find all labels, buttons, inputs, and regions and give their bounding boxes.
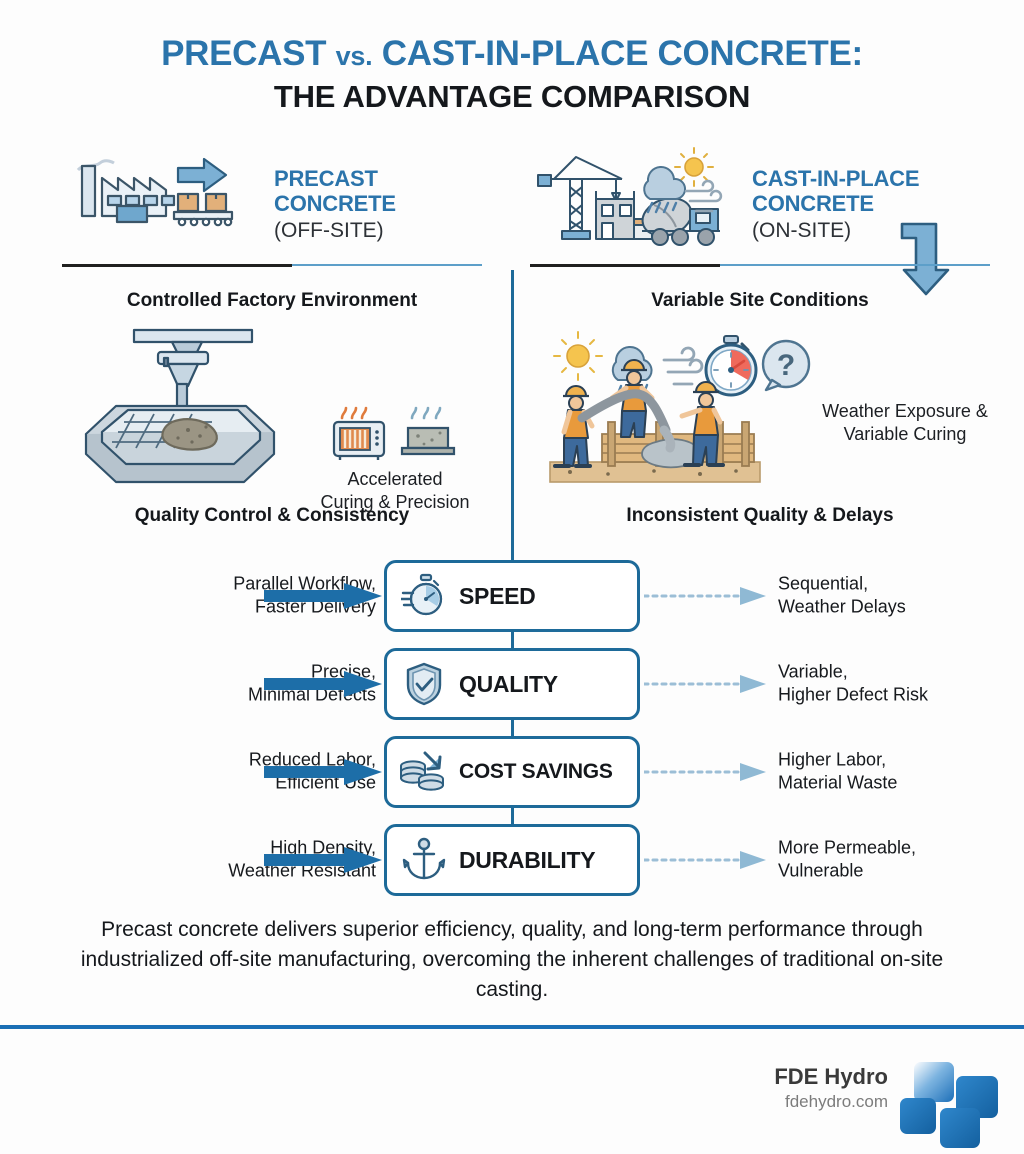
brand-name: FDE Hydro <box>774 1064 888 1090</box>
footer-divider <box>0 1025 1024 1029</box>
factory-icon <box>62 148 262 263</box>
category-box-speed[interactable]: SPEED <box>384 560 640 632</box>
stopwatch-icon <box>393 573 455 619</box>
quality-castinplace-line1: Variable, <box>778 661 1008 684</box>
title-line-1: PRECAST vs. CAST-IN-PLACE CONCRETE: <box>0 34 1024 74</box>
workers-pouring-concrete-icon: ? <box>546 330 816 495</box>
arrow-right-solid-durability <box>264 847 382 873</box>
category-box-cost-savings[interactable]: COST SAVINGS <box>384 736 640 808</box>
durability-castinplace-line2: Vulnerable <box>778 860 1008 883</box>
oven-curing-icon <box>334 408 384 460</box>
arrow-right-dotted-speed <box>644 587 770 605</box>
durability-castinplace-line1: More Permeable, <box>778 837 1008 860</box>
weather-exposure-caption: Weather Exposure & Variable Curing <box>810 400 1000 445</box>
comparison-row-speed: Parallel Workflow, Faster Delivery <box>0 552 1024 640</box>
footer: FDE Hydro fdehydro.com <box>0 1050 1024 1154</box>
brand-block: FDE Hydro fdehydro.com <box>774 1064 888 1113</box>
castinplace-header-text: CAST-IN-PLACE CONCRETE (ON-SITE) <box>752 167 919 242</box>
conclusion-text: Precast concrete delivers superior effic… <box>72 915 952 1004</box>
fde-hydro-squares-logo <box>898 1058 1002 1150</box>
arrow-right-dotted-cost <box>644 763 770 781</box>
precast-name-line2: CONCRETE <box>274 192 396 217</box>
header-rule-right <box>530 264 720 267</box>
quality-castinplace-label: Variable, Higher Defect Risk <box>778 661 1008 708</box>
quality-castinplace-line2: Higher Defect Risk <box>778 684 1008 707</box>
shield-check-icon <box>393 661 455 707</box>
comparison-rows: Parallel Workflow, Faster Delivery <box>0 552 1024 904</box>
svg-text:?: ? <box>777 349 795 382</box>
arrow-right-solid-cost <box>264 759 382 785</box>
comparison-row-durability: High Density, Weather Resistant <box>0 816 1024 904</box>
comparison-row-cost-savings: Reduced Labor, Efficient Use <box>0 728 1024 816</box>
arrow-right-icon <box>178 159 226 191</box>
title-line-2: THE ADVANTAGE COMPARISON <box>0 78 1024 115</box>
stage-label-inconsistent-quality: Inconsistent Quality & Delays <box>530 505 990 527</box>
durability-castinplace-label: More Permeable, Vulnerable <box>778 837 1008 884</box>
castinplace-subtitle: (ON-SITE) <box>752 218 919 243</box>
header-rule-left-accent <box>292 264 482 266</box>
worker-left <box>555 386 592 466</box>
sun-icon <box>554 332 602 380</box>
category-label-quality: QUALITY <box>459 671 558 698</box>
castinplace-name-line2: CONCRETE <box>752 192 919 217</box>
arrow-down-bent-icon <box>896 218 974 300</box>
speed-castinplace-line2: Weather Delays <box>778 596 1008 619</box>
accelerated-curing-text: Accelerated Curing & Precision <box>320 469 469 512</box>
header-rule-left <box>62 264 292 267</box>
concrete-slab-icon <box>402 408 454 454</box>
crane-mixer-truck-icon <box>530 147 740 264</box>
coins-down-arrow-icon <box>393 749 455 795</box>
category-label-durability: DURABILITY <box>459 847 595 874</box>
category-box-durability[interactable]: DURABILITY <box>384 824 640 896</box>
precast-header: PRECAST CONCRETE (OFF-SITE) <box>62 150 482 260</box>
cost-castinplace-label: Higher Labor, Material Waste <box>778 749 1008 796</box>
cost-castinplace-line2: Material Waste <box>778 772 1008 795</box>
arrow-right-dotted-durability <box>644 851 770 869</box>
precast-mold-casting-icon <box>72 326 312 496</box>
category-box-quality[interactable]: QUALITY <box>384 648 640 720</box>
title-vs-text: vs. <box>336 41 373 71</box>
stage-label-variable-site: Variable Site Conditions <box>530 290 990 312</box>
speed-castinplace-label: Sequential, Weather Delays <box>778 573 1008 620</box>
anchor-icon <box>393 837 455 883</box>
castinplace-name-line1: CAST-IN-PLACE <box>752 167 919 192</box>
stage-label-controlled-factory: Controlled Factory Environment <box>62 290 482 312</box>
precast-name-line1: PRECAST <box>274 167 396 192</box>
question-bubble-icon: ? <box>763 341 809 390</box>
accelerated-curing-caption: Accelerated Curing & Precision <box>320 402 470 513</box>
arrow-right-dotted-quality <box>644 675 770 693</box>
precast-subtitle: (OFF-SITE) <box>274 218 396 243</box>
wind-icon <box>664 348 702 384</box>
page-title: PRECAST vs. CAST-IN-PLACE CONCRETE: THE … <box>0 34 1024 115</box>
brand-url: fdehydro.com <box>774 1091 888 1113</box>
speed-castinplace-line1: Sequential, <box>778 573 1008 596</box>
precast-header-text: PRECAST CONCRETE (OFF-SITE) <box>274 167 396 242</box>
arrow-right-solid-quality <box>264 671 382 697</box>
cost-castinplace-line1: Higher Labor, <box>778 749 1008 772</box>
infographic-page: PRECAST vs. CAST-IN-PLACE CONCRETE: THE … <box>0 0 1024 1154</box>
title-precast-text: PRECAST <box>161 34 336 73</box>
category-label-cost-savings: COST SAVINGS <box>459 760 613 784</box>
title-castinplace-text: CAST-IN-PLACE CONCRETE: <box>372 34 863 73</box>
header-rule-right-accent <box>720 264 990 266</box>
arrow-right-solid-speed <box>264 583 382 609</box>
center-divider <box>511 270 514 570</box>
comparison-row-quality: Precise, Minimal Defects QUALITY <box>0 640 1024 728</box>
category-label-speed: SPEED <box>459 583 535 610</box>
